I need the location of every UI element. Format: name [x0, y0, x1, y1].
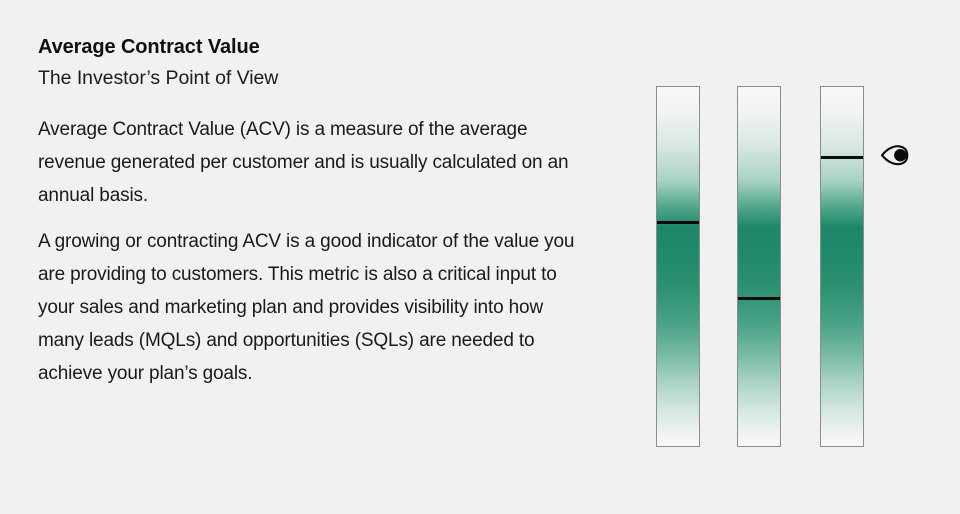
- gauge-bar-1: [656, 86, 700, 447]
- text-column: Average Contract Value The Investor’s Po…: [38, 34, 618, 390]
- slide-canvas: Average Contract Value The Investor’s Po…: [0, 0, 960, 514]
- gauge-bar-2: [737, 86, 781, 447]
- gauge-chart: [640, 0, 960, 514]
- gauge-marker-1: [656, 221, 700, 224]
- paragraph-1: Average Contract Value (ACV) is a measur…: [38, 113, 583, 212]
- gauge-marker-3: [820, 156, 864, 159]
- paragraph-2: A growing or contracting ACV is a good i…: [38, 225, 583, 390]
- page-title: Average Contract Value: [38, 34, 618, 60]
- gauge-marker-2: [737, 297, 781, 300]
- gauge-bar-3: [820, 86, 864, 447]
- body-text: Average Contract Value (ACV) is a measur…: [38, 113, 618, 390]
- page-subtitle: The Investor’s Point of View: [38, 64, 618, 92]
- eye-icon: [879, 139, 913, 171]
